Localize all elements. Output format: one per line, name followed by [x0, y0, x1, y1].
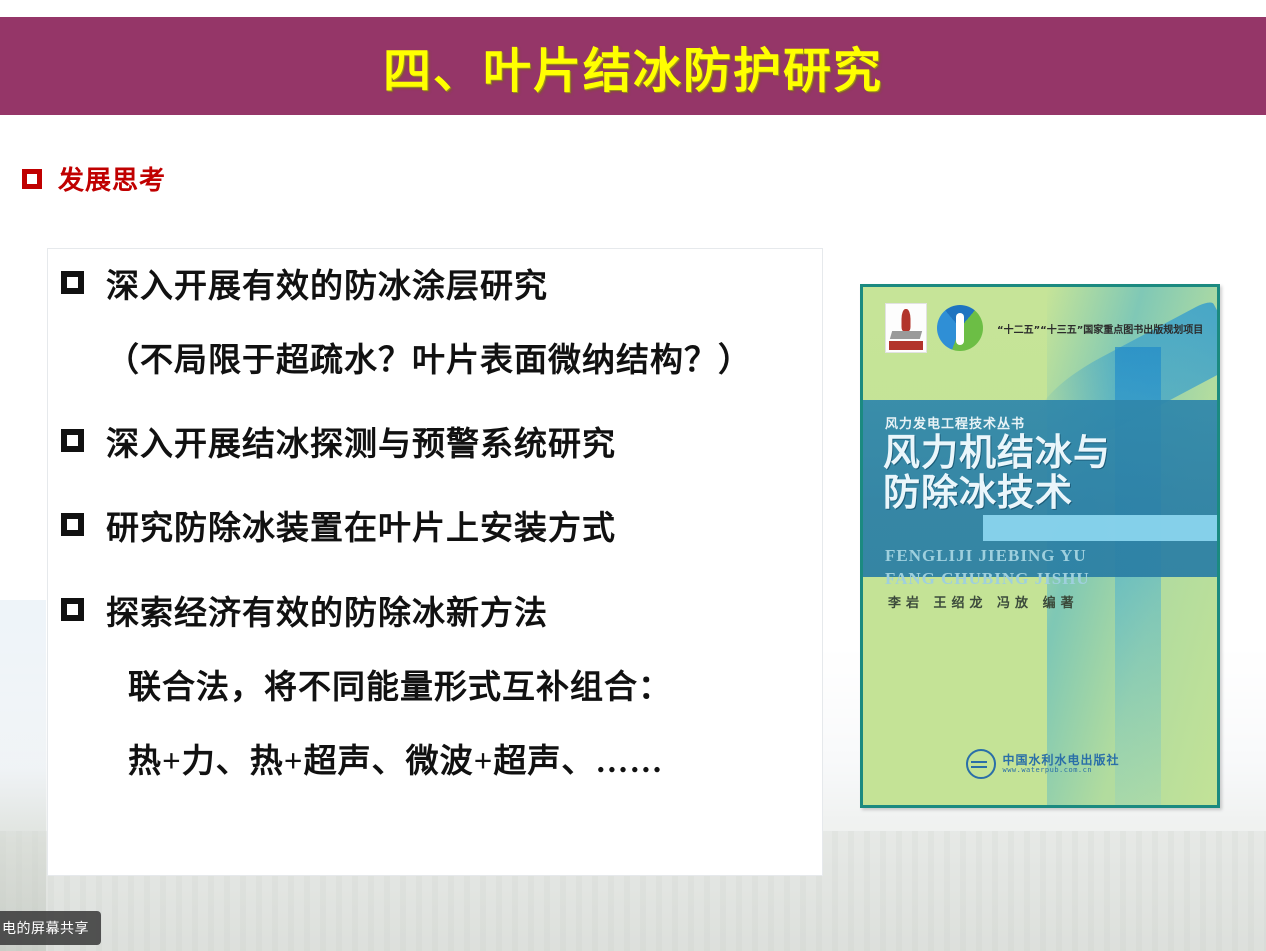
slide-title: 四、叶片结冰防护研究 — [383, 31, 883, 101]
emblem-figure — [902, 309, 911, 331]
spacer — [61, 478, 837, 504]
list-item-label: （不局限于超疏水？叶片表面微纳结构？） — [106, 336, 752, 386]
book-series-label: 风力发电工程技术丛书 — [885, 413, 1025, 432]
spacer — [61, 563, 837, 589]
bullet-placeholder — [61, 746, 84, 769]
publisher-name: 中国水利水电出版社 — [1002, 754, 1119, 767]
book-pinyin-line-2: FANG CHUBING JISHU — [885, 568, 1090, 591]
book-plan-text: “十二五”“十三五”国家重点图书出版规划项目 — [997, 321, 1203, 336]
spacer — [61, 647, 837, 663]
list-item: 热+力、热+超声、微波+超声、…… — [61, 737, 837, 787]
list-item: 研究防除冰装置在叶片上安装方式 — [61, 504, 837, 554]
bullet-placeholder — [61, 672, 84, 695]
square-bullet-icon — [61, 598, 84, 621]
list-item-label: 深入开展结冰探测与预警系统研究 — [106, 420, 616, 470]
emblem-cap — [889, 341, 923, 350]
publisher-url: www.waterpub.com.cn — [1002, 767, 1119, 775]
list-item-label: 研究防除冰装置在叶片上安装方式 — [106, 504, 616, 554]
list-item-label: 联合法，将不同能量形式互补组合： — [106, 663, 672, 713]
list-item: 探索经济有效的防除冰新方法 — [61, 589, 837, 639]
spacer — [61, 721, 837, 737]
list-item: 联合法，将不同能量形式互补组合： — [61, 663, 837, 713]
bullet-list: 深入开展有效的防冰涂层研究 （不局限于超疏水？叶片表面微纳结构？） 深入开展结冰… — [47, 248, 837, 795]
book-title-line-2: 防除冰技术 — [883, 473, 1111, 513]
square-bullet-icon — [61, 429, 84, 452]
screen-share-badge: 电的屏幕共享 — [0, 911, 101, 945]
list-item-label: 深入开展有效的防冰涂层研究 — [106, 262, 548, 312]
spacer — [61, 394, 837, 420]
book-title-line-1: 风力机结冰与 — [883, 433, 1111, 473]
list-item: 深入开展结冰探测与预警系统研究 — [61, 420, 837, 470]
book-cover-image: “十二五”“十三五”国家重点图书出版规划项目 风力发电工程技术丛书 风力机结冰与… — [860, 284, 1220, 808]
book-publisher: 中国水利水电出版社 www.waterpub.com.cn — [863, 749, 1220, 779]
book-logo-row: “十二五”“十三五”国家重点图书出版规划项目 — [885, 303, 1203, 353]
publisher-emblem-icon — [885, 303, 927, 353]
book-authors: 李岩 王绍龙 冯放 编著 — [888, 592, 1079, 611]
red-square-bullet-icon — [22, 169, 42, 189]
square-bullet-icon — [61, 513, 84, 536]
publisher-logo-icon — [966, 749, 996, 779]
section-heading: 发展思考 — [22, 160, 166, 197]
square-bullet-icon — [61, 271, 84, 294]
list-item: 深入开展有效的防冰涂层研究 — [61, 262, 837, 312]
wind-energy-logo-icon — [937, 305, 983, 351]
book-pinyin: FENGLIJI JIEBING YU FANG CHUBING JISHU — [885, 545, 1090, 591]
list-item-label: 热+力、热+超声、微波+超声、…… — [106, 737, 663, 787]
presentation-slide: 四、叶片结冰防护研究 发展思考 深入开展有效的防冰涂层研究 （不局限于超疏水？叶… — [0, 0, 1266, 951]
slide-title-banner: 四、叶片结冰防护研究 — [0, 17, 1266, 115]
background-sky-left — [0, 600, 46, 951]
bullet-placeholder — [61, 345, 84, 368]
publisher-text: 中国水利水电出版社 www.waterpub.com.cn — [1002, 754, 1119, 775]
list-item-label: 探索经济有效的防除冰新方法 — [106, 589, 548, 639]
book-pinyin-line-1: FENGLIJI JIEBING YU — [885, 545, 1090, 568]
spacer — [61, 320, 837, 336]
book-title-highlight-bar — [983, 515, 1220, 541]
emblem-base — [890, 331, 922, 339]
section-heading-label: 发展思考 — [58, 160, 166, 197]
list-item: （不局限于超疏水？叶片表面微纳结构？） — [61, 336, 837, 386]
book-title: 风力机结冰与 防除冰技术 — [883, 433, 1111, 513]
